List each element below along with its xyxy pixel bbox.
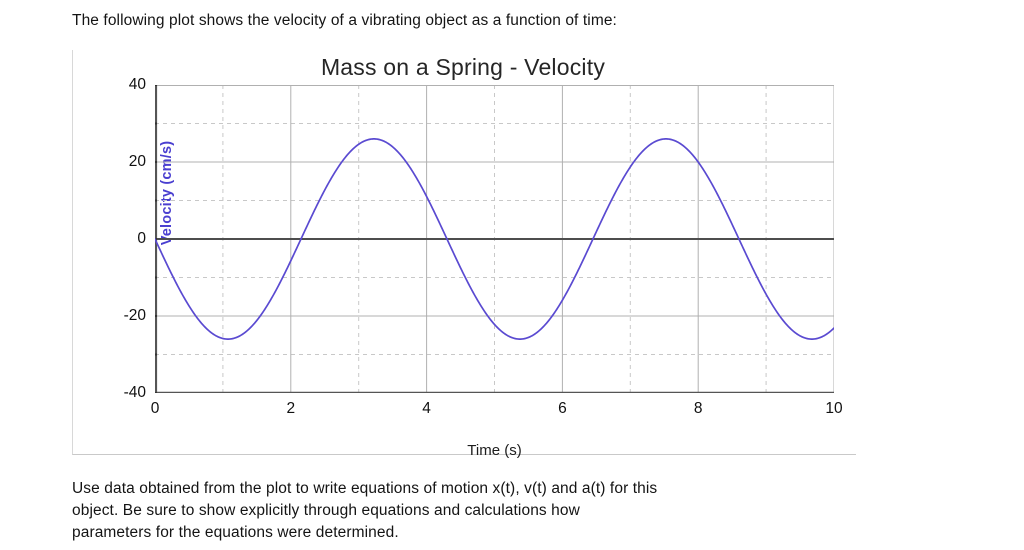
y-tick-label: 0 <box>137 230 146 248</box>
y-tick-label: -20 <box>124 307 146 325</box>
intro-paragraph: The following plot shows the velocity of… <box>72 10 952 32</box>
y-tick-label: -40 <box>124 384 146 402</box>
outro-paragraph: Use data obtained from the plot to write… <box>72 478 872 544</box>
x-tick-label: 8 <box>694 400 703 418</box>
x-tick-label: 2 <box>286 400 295 418</box>
x-tick-label: 0 <box>151 400 160 418</box>
chart-title: Mass on a Spring - Velocity <box>213 54 713 81</box>
outro-line: Use data obtained from the plot to write… <box>72 478 872 500</box>
x-tick-label: 6 <box>558 400 567 418</box>
outro-line: object. Be sure to show explicitly throu… <box>72 500 872 522</box>
x-axis-title: Time (s) <box>155 442 834 459</box>
plot-area: Velocity (cm/s) -40-2002040 0246810 Time… <box>155 85 834 393</box>
outro-line: parameters for the equations were determ… <box>72 522 872 544</box>
x-tick-label: 4 <box>422 400 431 418</box>
y-tick-label: 20 <box>129 153 146 171</box>
plot-canvas <box>155 85 834 393</box>
y-tick-label: 40 <box>129 76 146 94</box>
page-root: The following plot shows the velocity of… <box>0 0 1024 550</box>
figure-panel: Mass on a Spring - Velocity Velocity (cm… <box>72 50 856 455</box>
x-tick-label: 10 <box>825 400 842 418</box>
